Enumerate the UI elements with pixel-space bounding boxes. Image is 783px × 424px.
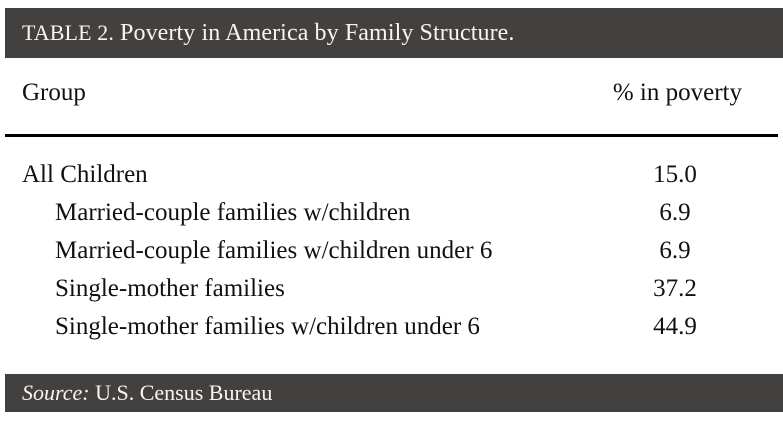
row-value: 15.0 [605,158,745,192]
table-source: Source: U.S. Census Bureau [22,382,272,404]
table-body: All Children 15.0 Married-couple familie… [5,158,778,348]
row-label: Single-mother families [55,272,285,306]
table-number-label: TABLE 2. [22,20,114,45]
row-label: Married-couple families w/children under… [55,234,492,268]
column-header-group: Group [22,78,86,108]
header-divider-rule [5,134,778,137]
row-label: Single-mother families w/children under … [55,310,480,344]
poverty-table-figure: TABLE 2. Poverty in America by Family St… [0,0,783,424]
row-value: 6.9 [605,234,745,268]
table-row: Single-mother families 37.2 [5,272,778,310]
table-row: Single-mother families w/children under … [5,310,778,348]
table-column-header: Group % in poverty [5,78,778,122]
table-source-bar: Source: U.S. Census Bureau [5,374,783,412]
row-value: 37.2 [605,272,745,306]
table-caption-text: Poverty in America by Family Structure. [120,20,515,46]
column-header-percent: % in poverty [613,78,742,108]
source-label: Source: [22,380,90,405]
row-value: 44.9 [605,310,745,344]
row-label: All Children [22,158,148,192]
row-value: 6.9 [605,196,745,230]
table-row: Married-couple families w/children under… [5,234,778,272]
table-row: Married-couple families w/children 6.9 [5,196,778,234]
table-title: TABLE 2. Poverty in America by Family St… [22,21,515,45]
row-label: Married-couple families w/children [55,196,410,230]
source-value: U.S. Census Bureau [95,380,272,405]
table-row: All Children 15.0 [5,158,778,196]
table-title-bar: TABLE 2. Poverty in America by Family St… [5,8,783,58]
